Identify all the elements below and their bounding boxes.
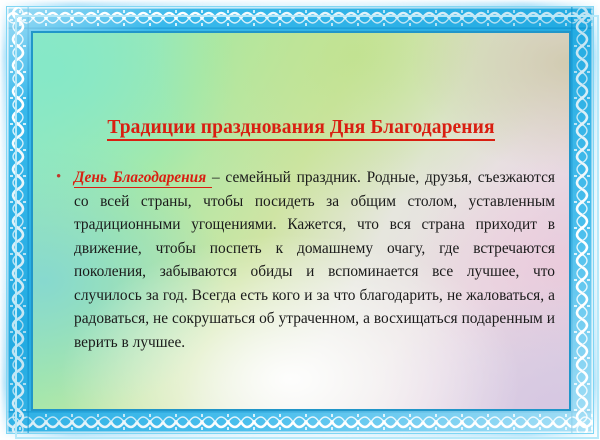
- page-title: Традиции празднования Дня Благодарения: [33, 117, 569, 139]
- ornament-band-top-icon: [7, 7, 593, 29]
- body-paragraph: День Благодарения – семейный праздник. Р…: [74, 166, 555, 354]
- ornament-band-left-icon: [7, 7, 29, 433]
- ornament-band-right-icon: [571, 7, 593, 433]
- body-lead-in-term: День Благодарения: [74, 169, 212, 188]
- slide-text-container: Традиции празднования Дня Благодарения •…: [33, 33, 569, 409]
- presentation-slide: Традиции празднования Дня Благодарения •…: [0, 0, 600, 440]
- ornament-band-bottom-icon: [7, 411, 593, 433]
- bullet-marker-icon: •: [53, 166, 74, 190]
- decorative-frame: Традиции празднования Дня Благодарения •…: [6, 6, 594, 434]
- slide-content-area: Традиции празднования Дня Благодарения •…: [31, 31, 571, 411]
- body-paragraph-text: – семейный праздник. Родные, друзья, съе…: [74, 169, 555, 351]
- page-title-text: Традиции празднования Дня Благодарения: [107, 117, 494, 141]
- bullet-list-item: • День Благодарения – семейный праздник.…: [53, 166, 555, 354]
